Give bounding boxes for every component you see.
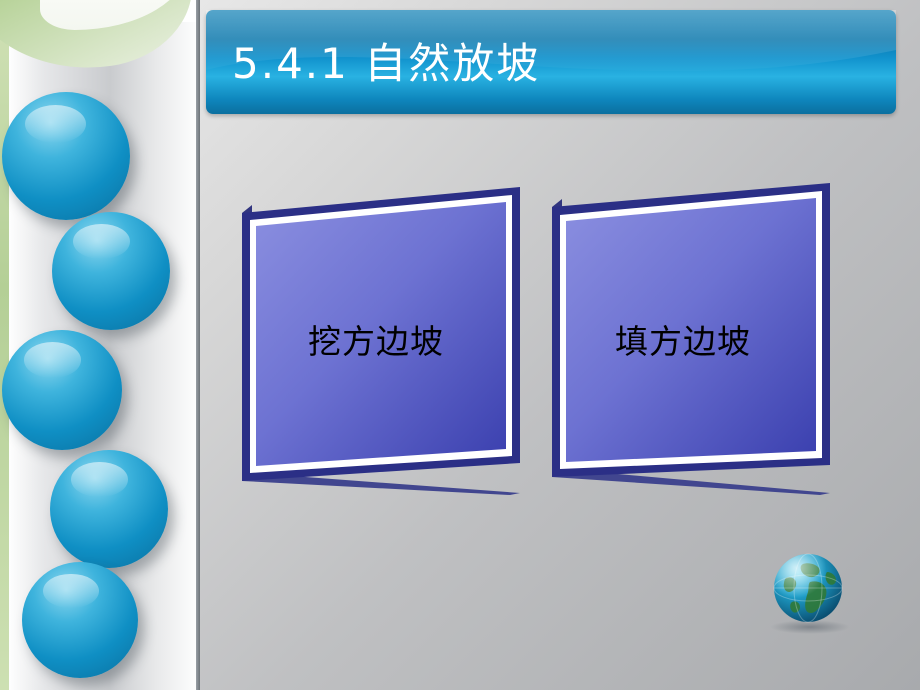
band-right-edge bbox=[196, 0, 200, 690]
page-title: 5.4.1 自然放坡 bbox=[232, 30, 540, 91]
shape-label-excavation: 挖方边坡 bbox=[308, 315, 444, 363]
decorative-circle-2 bbox=[52, 212, 170, 330]
band-green-bar bbox=[0, 20, 9, 690]
shape-excavation-slope[interactable]: 挖方边坡 bbox=[228, 175, 538, 495]
decorative-circle-1 bbox=[2, 92, 130, 220]
globe-icon bbox=[772, 552, 844, 624]
decorative-circle-5 bbox=[22, 562, 138, 678]
slide-canvas: 5.4.1 自然放坡 bbox=[0, 0, 920, 690]
shape-fill-slope[interactable]: 填方边坡 bbox=[540, 175, 840, 495]
shape-label-fill: 填方边坡 bbox=[615, 315, 751, 363]
decorative-circle-4 bbox=[50, 450, 168, 568]
left-decoration-band bbox=[0, 0, 200, 690]
decorative-circle-3 bbox=[2, 330, 122, 450]
slide-title-bar: 5.4.1 自然放坡 bbox=[206, 10, 896, 114]
